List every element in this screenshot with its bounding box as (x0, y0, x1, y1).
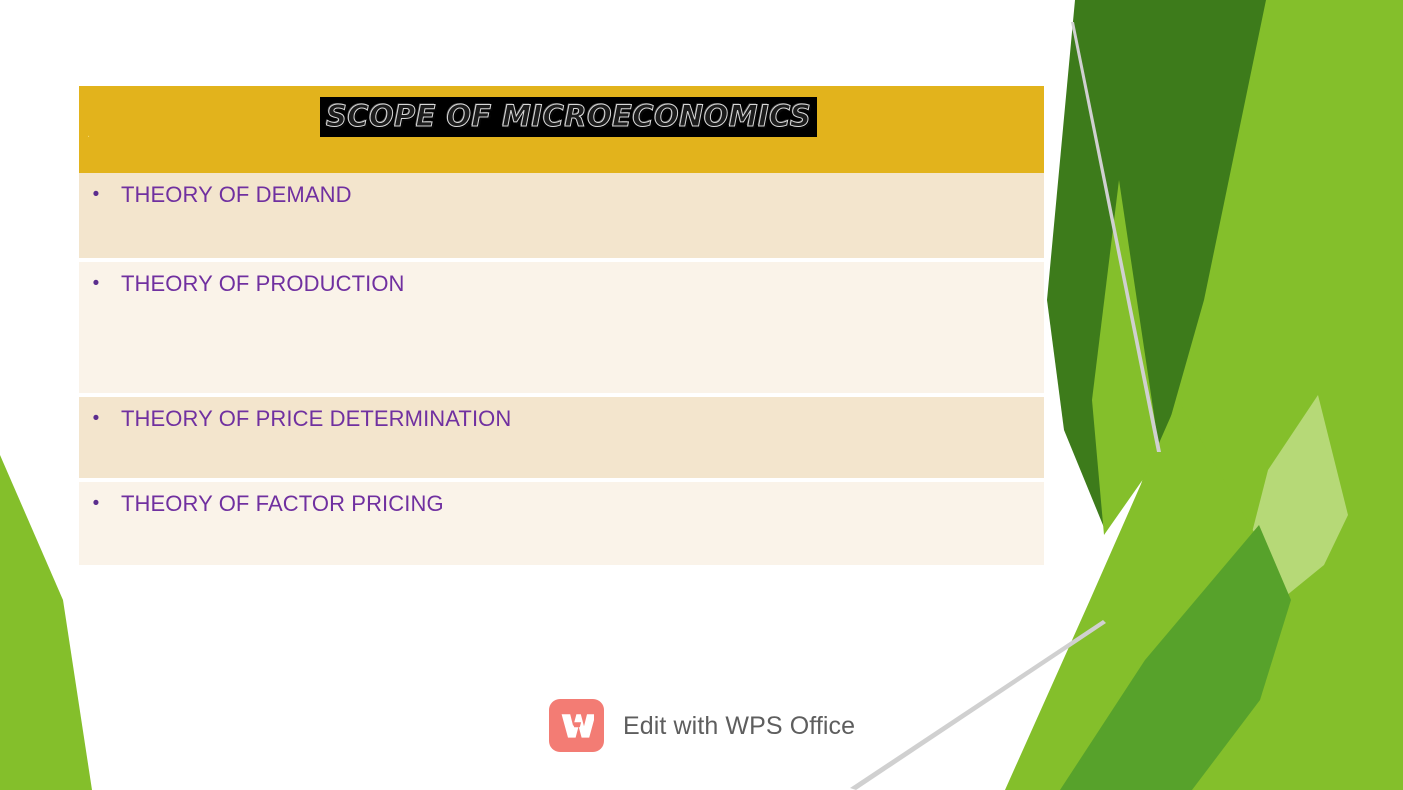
title-banner: . SCOPE OF MICROECONOMICS (79, 86, 1044, 173)
bullet-point-icon: • (89, 184, 103, 206)
green-bright-sliver-shape (1092, 180, 1160, 535)
page-title: SCOPE OF MICROECONOMICS (326, 99, 811, 133)
bullet-text-price-determination: THEORY OF PRICE DETERMINATION (121, 406, 511, 432)
slide-content: . SCOPE OF MICROECONOMICS • THEORY OF DE… (79, 86, 1044, 565)
bullet-text-production: THEORY OF PRODUCTION (121, 271, 405, 297)
bullet-point-icon: • (89, 273, 103, 295)
bullet-row-factor-pricing[interactable]: • THEORY OF FACTOR PRICING (79, 482, 1044, 565)
bullet-row-production[interactable]: • THEORY OF PRODUCTION (79, 262, 1044, 393)
edit-with-wps-office-watermark[interactable]: Edit with WPS Office (549, 699, 855, 752)
green-dark-wedge-shape (1047, 0, 1266, 530)
title-plate: SCOPE OF MICROECONOMICS (320, 97, 817, 137)
watermark-label: Edit with WPS Office (623, 712, 855, 740)
green-bright-right-shape (1030, 0, 1403, 790)
bullet-point-icon: • (89, 408, 103, 430)
bullet-point-icon: • (89, 493, 103, 515)
slide-canvas: . SCOPE OF MICROECONOMICS • THEORY OF DE… (0, 0, 1403, 790)
wps-w-logo-icon (549, 699, 604, 752)
green-light-blade-shape (1245, 395, 1348, 600)
title-marker-dot: . (87, 129, 90, 140)
green-bright-lower-blade-shape (1005, 400, 1270, 790)
green-mid-lower-blade-shape (1060, 525, 1291, 790)
bullet-text-factor-pricing: THEORY OF FACTOR PRICING (121, 491, 444, 517)
diagonal-line-lower (850, 620, 1106, 790)
diagonal-line-upper (1071, 22, 1161, 452)
bullet-text-demand: THEORY OF DEMAND (121, 182, 352, 208)
bullet-row-price-determination[interactable]: • THEORY OF PRICE DETERMINATION (79, 397, 1044, 478)
wps-w-glyph (560, 713, 594, 739)
bullet-row-demand[interactable]: • THEORY OF DEMAND (79, 173, 1044, 258)
